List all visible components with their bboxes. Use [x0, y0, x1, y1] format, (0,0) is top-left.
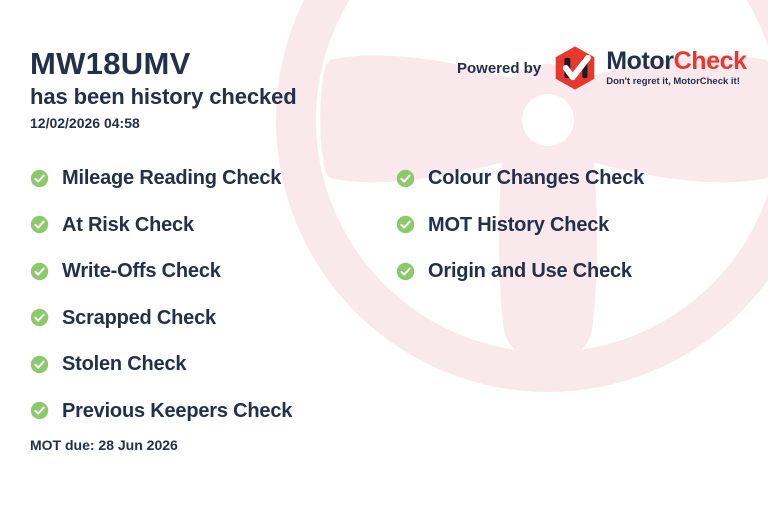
- check-item: Mileage Reading Check: [30, 155, 292, 202]
- check-item-label: Origin and Use Check: [428, 261, 632, 281]
- check-item: Previous Keepers Check: [30, 388, 292, 435]
- mot-due-date: MOT due: 28 Jun 2026: [30, 438, 178, 452]
- brand-name-check: Check: [674, 47, 747, 75]
- check-circle-icon: [396, 169, 415, 188]
- check-circle-icon: [30, 308, 49, 327]
- check-circle-icon: [30, 401, 49, 420]
- motorcheck-hexagon-logo-icon: [552, 45, 598, 91]
- brand-name-motor: Motor: [606, 47, 673, 75]
- check-item: Scrapped Check: [30, 295, 292, 342]
- check-item-label: Previous Keepers Check: [62, 401, 292, 421]
- history-checked-status: has been history checked: [30, 86, 297, 108]
- check-item-label: At Risk Check: [62, 215, 194, 235]
- motorcheck-wordmark: MotorCheck Don't regret it, MotorCheck i…: [606, 49, 746, 87]
- check-circle-icon: [30, 169, 49, 188]
- powered-by-branding: Powered by MotorCheck Don't regret it, M…: [457, 45, 747, 91]
- check-item-label: Mileage Reading Check: [62, 168, 281, 188]
- powered-by-label: Powered by: [457, 60, 541, 77]
- brand-name: MotorCheck: [606, 49, 746, 74]
- check-item: Origin and Use Check: [396, 248, 644, 295]
- check-item: Colour Changes Check: [396, 155, 644, 202]
- checks-left-column: Mileage Reading Check At Risk Check Writ…: [30, 155, 292, 434]
- vehicle-registration: MW18UMV: [30, 48, 191, 79]
- check-item: At Risk Check: [30, 202, 292, 249]
- check-item-label: Colour Changes Check: [428, 168, 644, 188]
- check-item-label: Scrapped Check: [62, 308, 216, 328]
- vehicle-history-check-card: MW18UMV has been history checked 12/02/2…: [0, 0, 768, 512]
- brand-tagline: Don't regret it, MotorCheck it!: [606, 77, 746, 87]
- check-item: MOT History Check: [396, 202, 644, 249]
- check-circle-icon: [396, 262, 415, 281]
- check-item-label: Write-Offs Check: [62, 261, 221, 281]
- checks-right-column: Colour Changes Check MOT History Check O…: [396, 155, 644, 295]
- check-circle-icon: [396, 215, 415, 234]
- check-item-label: Stolen Check: [62, 354, 186, 374]
- check-item-label: MOT History Check: [428, 215, 609, 235]
- check-timestamp: 12/02/2026 04:58: [30, 116, 140, 130]
- check-circle-icon: [30, 215, 49, 234]
- check-circle-icon: [30, 262, 49, 281]
- check-circle-icon: [30, 355, 49, 374]
- check-item: Write-Offs Check: [30, 248, 292, 295]
- check-item: Stolen Check: [30, 341, 292, 388]
